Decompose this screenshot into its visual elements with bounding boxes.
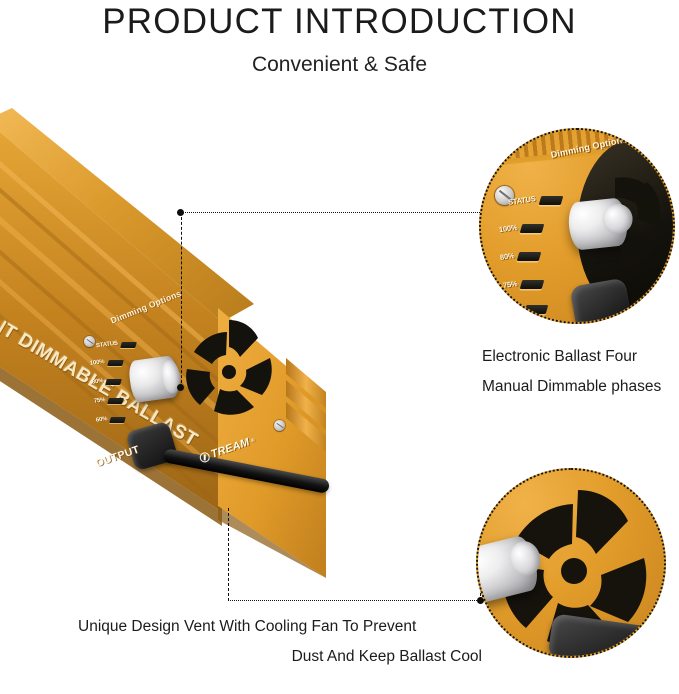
tick-100-label: 100%	[90, 359, 105, 367]
tick-100: 100%	[90, 360, 123, 366]
inset-dimming-options-content: Dimming Options STATUS 100% 80% 75% 60%	[481, 130, 673, 322]
brand-name: TREAM	[209, 436, 251, 460]
page-title: PRODUCT INTRODUCTION	[0, 2, 679, 42]
callout-right-line2: Manual Dimmable phases	[482, 372, 679, 402]
tick-75-slot	[108, 398, 125, 404]
leader-line-top-vertical	[181, 212, 182, 388]
brand-trademark: ®	[250, 437, 256, 444]
inset-cooling-fan-content	[478, 470, 664, 656]
output-cable	[163, 448, 331, 494]
callout-bottom-line1: Unique Design Vent With Cooling Fan To P…	[78, 612, 482, 642]
callout-bottom-line2: Dust And Keep Ballast Cool	[78, 642, 482, 672]
status-tick-slot	[120, 342, 137, 348]
status-tick-label: STATUS	[96, 341, 118, 350]
tick-60-slot	[110, 417, 127, 423]
leader-line-top-horizontal	[180, 212, 492, 213]
tick-80-label: 80%	[92, 378, 104, 385]
callout-bottom: Unique Design Vent With Cooling Fan To P…	[78, 612, 482, 672]
tick-100-slot	[107, 360, 124, 366]
brand-mark-icon	[198, 451, 211, 464]
page-subtitle: Convenient & Safe	[0, 53, 679, 77]
face-screw-top-left	[84, 336, 95, 347]
tick-75: 75%	[94, 398, 123, 404]
inset-dimming-options: Dimming Options STATUS 100% 80% 75% 60%	[479, 128, 675, 324]
product-introduction-image: PRODUCT INTRODUCTION Convenient & Safe	[0, 0, 679, 694]
leader-line-bottom-horizontal	[228, 600, 481, 601]
callout-right: Electronic Ballast Four Manual Dimmable …	[482, 342, 679, 402]
inset-cooling-fan	[476, 468, 666, 658]
output-label: OUTPUT	[94, 443, 141, 469]
tick-80-slot	[106, 379, 123, 385]
tick-60: 60%	[96, 417, 125, 423]
leader-line-bottom-vertical	[228, 508, 229, 601]
ballast-device: LIGENT DIMMABLE BALLAST Dimming Options …	[0, 108, 326, 578]
inset-vent-grille	[481, 130, 673, 322]
tick-60-label: 60%	[96, 416, 108, 423]
leader-dot-knob	[177, 384, 184, 391]
leader-dot-top-left	[177, 209, 184, 216]
status-tick: STATUS	[96, 342, 136, 348]
callout-right-line1: Electronic Ballast Four	[482, 342, 679, 372]
tick-75-label: 75%	[94, 397, 106, 404]
cooling-fan-vent-grille	[170, 310, 288, 435]
tick-80: 80%	[92, 379, 121, 385]
ballast-front-face: Dimming Options STATUS 100% 80% 75% 60%	[78, 298, 310, 513]
